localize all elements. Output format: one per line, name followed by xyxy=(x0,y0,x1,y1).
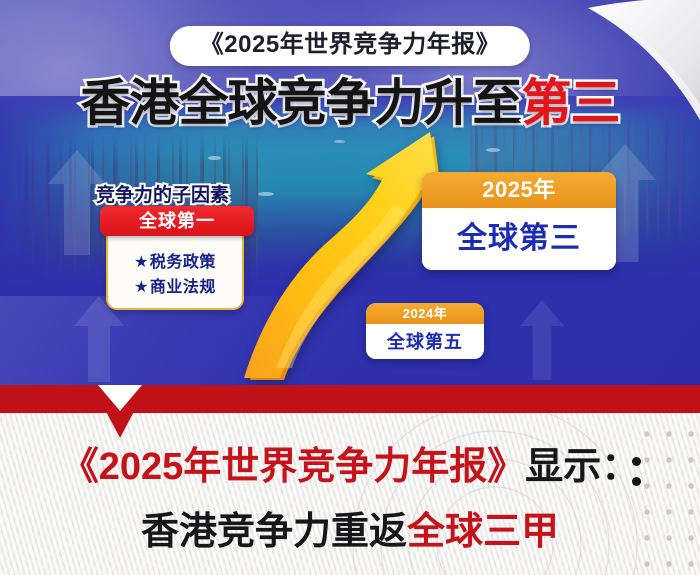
rank-card-2024-year: 2024年 xyxy=(366,303,484,324)
global-first-card: 全球第一 ★税务政策 ★商业法规 xyxy=(106,214,244,310)
list-item-label: 税务政策 xyxy=(150,254,216,271)
star-icon: ★ xyxy=(134,254,149,271)
background-arrow-up xyxy=(520,300,564,380)
global-first-ribbon: 全球第一 xyxy=(100,206,254,236)
list-item-label: 商业法规 xyxy=(150,279,216,296)
list-item: ★商业法规 xyxy=(108,275,242,300)
rank-card-2025-year-text: 2025年 xyxy=(482,177,555,203)
list-item: ★税务政策 xyxy=(108,250,242,275)
report-title-text: 《2025年世界竞争力年报》 xyxy=(200,30,500,60)
rank-card-2025-rank-text: 全球第三 xyxy=(457,222,581,256)
bottom-line-1: 《2025年世界竞争力年报》显示： xyxy=(0,443,700,491)
global-first-ribbon-text: 全球第一 xyxy=(139,211,215,231)
rank-card-2025-rank: 全球第三 xyxy=(422,208,616,270)
bottom-line-1-red: 《2025年世界竞争力年报》 xyxy=(61,446,526,488)
red-notch-arrow xyxy=(92,385,148,438)
rank-card-2025: 2025年 全球第三 xyxy=(422,172,616,270)
rank-card-2024-rank: 全球第五 xyxy=(366,324,484,359)
report-title-pill: 《2025年世界竞争力年报》 xyxy=(170,26,530,66)
page-curl-icon xyxy=(580,0,700,120)
sub-factor-label: 竞争力的子因素 xyxy=(96,184,229,208)
bottom-line-2-black: 香港竞争力重返 xyxy=(141,511,407,553)
rank-card-2024-year-text: 2024年 xyxy=(403,306,447,322)
sub-factor-label-text: 竞争力的子因素 xyxy=(96,185,229,206)
rank-card-2024-rank-text: 全球第五 xyxy=(387,331,463,353)
bottom-line-2-red: 全球三甲 xyxy=(407,511,559,553)
star-icon: ★ xyxy=(134,279,149,296)
rank-card-2025-year: 2025年 xyxy=(422,172,616,208)
rank-card-2024: 2024年 全球第五 xyxy=(366,303,484,359)
bottom-line-2: 香港竞争力重返全球三甲 xyxy=(0,508,700,556)
headline-main: 香港全球竞争力升至 xyxy=(81,75,522,131)
global-first-list: ★税务政策 ★商业法规 xyxy=(108,250,242,300)
bottom-line-1-black: 显示： xyxy=(525,446,639,488)
infographic-poster: 竞争力的子因素 全球第一 ★税务政策 ★商业法规 2025年 全球第三 xyxy=(0,0,700,575)
